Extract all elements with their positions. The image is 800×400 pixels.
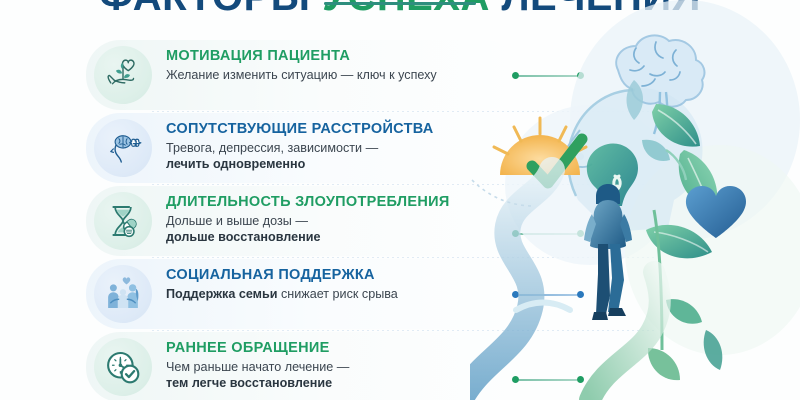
list-item-comorbid-disorders[interactable]: СОПУТСТВУЮЩИЕ РАССТРОЙСТВА Тревога, депр… bbox=[86, 113, 506, 183]
list-item-subtext: Желание изменить ситуацию — ключ к успех… bbox=[166, 68, 506, 84]
head-brain-plus-icon bbox=[94, 119, 152, 177]
list-item-subtext: Поддержка семьи снижает риск срыва bbox=[166, 287, 506, 303]
list-item-text: СОПУТСТВУЮЩИЕ РАССТРОЙСТВА Тревога, депр… bbox=[166, 121, 506, 172]
list-item-text: СОЦИАЛЬНАЯ ПОДДЕРЖКА Поддержка семьи сни… bbox=[166, 267, 506, 303]
list-item-text: ДЛИТЕЛЬНОСТЬ ЗЛОУПОТРЕБЛЕНИЯ Дольше и вы… bbox=[166, 194, 506, 245]
list-item-text: РАННЕЕ ОБРАЩЕНИЕ Чем раньше начато лечен… bbox=[166, 340, 506, 391]
subtext-line-2: дольше восстановление bbox=[166, 230, 506, 246]
clock-check-icon bbox=[94, 338, 152, 396]
family-heart-icon bbox=[94, 265, 152, 323]
subtext-line-1: снижает риск срыва bbox=[277, 287, 397, 301]
list-item-text: МОТИВАЦИЯ ПАЦИЕНТА Желание изменить ситу… bbox=[166, 48, 506, 84]
hourglass-pill-icon bbox=[94, 192, 152, 250]
hand-holding-plant-heart-icon bbox=[94, 46, 152, 104]
list-item-heading: ДЛИТЕЛЬНОСТЬ ЗЛОУПОТРЕБЛЕНИЯ bbox=[166, 194, 506, 211]
list-item-early-treatment[interactable]: РАННЕЕ ОБРАЩЕНИЕ Чем раньше начато лечен… bbox=[86, 332, 506, 400]
list-item-motivation[interactable]: МОТИВАЦИЯ ПАЦИЕНТА Желание изменить ситу… bbox=[86, 40, 506, 110]
title-underline-divider bbox=[324, 2, 476, 5]
list-item-social-support[interactable]: СОЦИАЛЬНАЯ ПОДДЕРЖКА Поддержка семьи сни… bbox=[86, 259, 506, 329]
subtext-line-2: тем легче восстановление bbox=[166, 376, 506, 392]
list-item-heading: СОПУТСТВУЮЩИЕ РАССТРОЙСТВА bbox=[166, 121, 506, 138]
list-item-heading: СОЦИАЛЬНАЯ ПОДДЕРЖКА bbox=[166, 267, 506, 284]
subtext-bold-part: Поддержка семьи bbox=[166, 287, 277, 301]
factors-list: МОТИВАЦИЯ ПАЦИЕНТА Желание изменить ситу… bbox=[86, 40, 506, 400]
subtext-line-1: Желание изменить ситуацию — ключ к успех… bbox=[166, 68, 437, 82]
list-item-abuse-duration[interactable]: ДЛИТЕЛЬНОСТЬ ЗЛОУПОТРЕБЛЕНИЯ Дольше и вы… bbox=[86, 186, 506, 256]
subtext-line-1: Чем раньше начато лечение — bbox=[166, 360, 349, 374]
infographic-canvas: ФАКТОРЫ УСПЕХА ЛЕЧЕНИЯ МОТИ bbox=[0, 0, 800, 400]
subtext-line-1: Тревога, депрессия, зависимости — bbox=[166, 141, 378, 155]
list-item-heading: РАННЕЕ ОБРАЩЕНИЕ bbox=[166, 340, 506, 357]
subtext-line-2: лечить одновременно bbox=[166, 157, 506, 173]
list-item-subtext: Дольше и выше дозы — дольше восстановлен… bbox=[166, 214, 506, 245]
list-item-subtext: Тревога, депрессия, зависимости — лечить… bbox=[166, 141, 506, 172]
illustration-panel bbox=[470, 0, 800, 400]
subtext-line-1: Дольше и выше дозы — bbox=[166, 214, 308, 228]
list-item-subtext: Чем раньше начато лечение — тем легче во… bbox=[166, 360, 506, 391]
list-item-heading: МОТИВАЦИЯ ПАЦИЕНТА bbox=[166, 48, 506, 65]
title-part-factors: ФАКТОРЫ bbox=[99, 0, 322, 19]
